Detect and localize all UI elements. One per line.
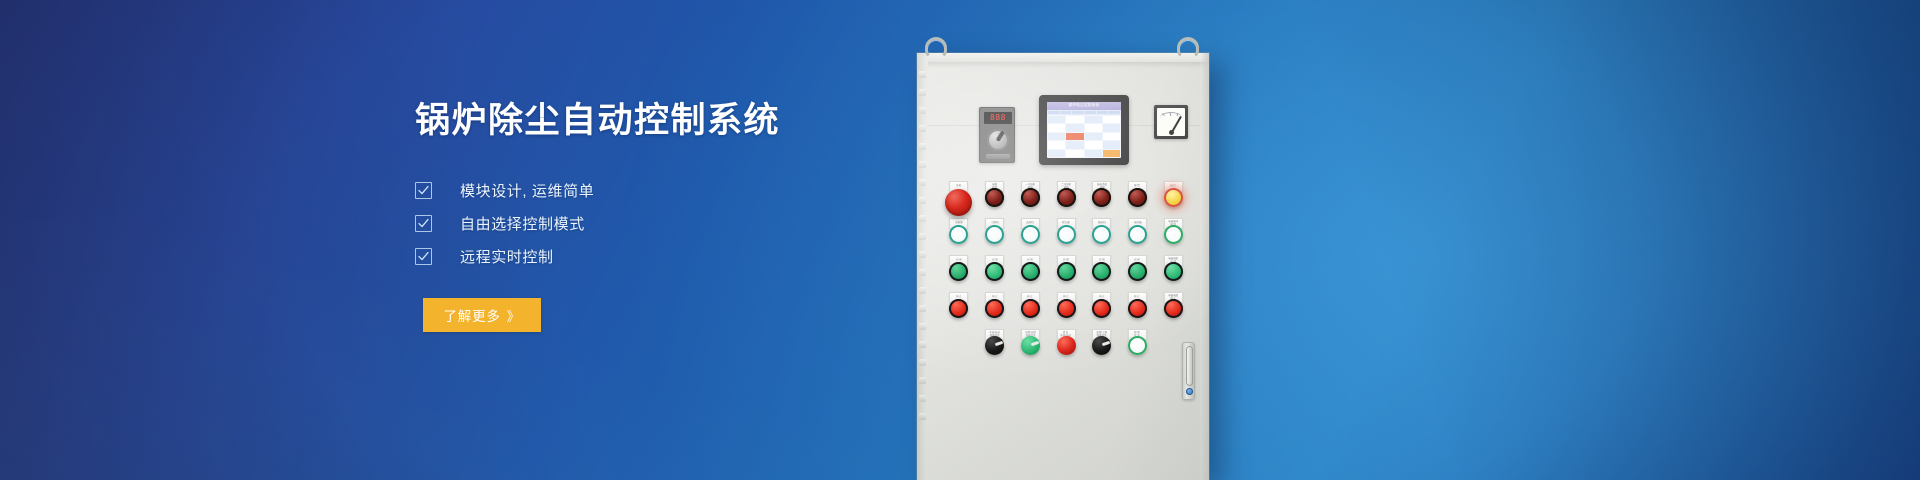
stop-button[interactable]: 停 止 [1084, 292, 1120, 318]
handle-bar [1186, 346, 1193, 386]
mushroom-button-icon[interactable] [945, 189, 972, 216]
button-row: 停 止 停 止 停 止 停 止 [941, 292, 1191, 329]
stop-lamp-icon[interactable] [1092, 299, 1111, 318]
gauge-face [1157, 108, 1185, 136]
hero-banner: 锅炉除尘自动控制系统 模块设计, 运维简单 自由选择控制模式 远程实时控制 [0, 0, 1920, 480]
indicator-lamp-icon[interactable] [1021, 188, 1040, 207]
grid-spacer [941, 329, 977, 355]
indicator-power[interactable]: 电源 指示 [977, 181, 1013, 207]
button-dust-collector[interactable]: 除尘器 [1048, 218, 1084, 244]
indicator-lamp-icon[interactable] [1128, 188, 1147, 207]
button-row: 手动/自动 转换开关 就地/远程 转换开关 清 灰 手动/自动 变频/工频 转换… [941, 329, 1191, 366]
learn-more-label: 了解更多 [443, 305, 500, 325]
indicator-lamp-icon[interactable] [1164, 188, 1183, 207]
stop-lamp-icon[interactable] [1057, 299, 1076, 318]
list-item: 自由选择控制模式 [415, 207, 885, 240]
start-button[interactable]: 启 动 [977, 255, 1013, 281]
button-row: 总电源 引风机 送风机 除尘器 [941, 218, 1191, 255]
selector-switch-icon[interactable] [1057, 336, 1076, 355]
feature-list: 模块设计, 运维简单 自由选择控制模式 远程实时控制 [415, 174, 885, 273]
indicator-lamp-icon[interactable] [1092, 225, 1111, 244]
stop-button[interactable]: 停 止 [977, 292, 1013, 318]
indicator-running[interactable]: 运 行 [1155, 181, 1191, 207]
table-row [1048, 141, 1120, 148]
indicator-ash-fault[interactable]: 输灰系统 故障 [1084, 181, 1120, 207]
stop-button[interactable]: 停 止 [941, 292, 977, 318]
start-lamp-icon[interactable] [1164, 262, 1183, 281]
indicator-lamp-icon[interactable] [1057, 188, 1076, 207]
selector-vfd-line[interactable]: 变频/工频 转换开关 [1084, 329, 1120, 355]
start-button[interactable]: 启 动 [1084, 255, 1120, 281]
indicator-lamp-icon[interactable] [1021, 225, 1040, 244]
start-lamp-icon[interactable] [1092, 262, 1111, 281]
stop-button-valve-group[interactable]: 电磁阀组 停 止 [1155, 292, 1191, 318]
start-button[interactable]: 启 动 [941, 255, 977, 281]
cabinet-top-shadow [917, 62, 1209, 68]
lock-icon[interactable] [1186, 388, 1193, 395]
indicator-lamp-icon[interactable] [985, 188, 1004, 207]
indicator-lamp-icon[interactable] [1092, 188, 1111, 207]
button-solenoid-valve-group[interactable]: 电磁脉冲 阀 组 [1155, 218, 1191, 244]
button-ash-conveyor[interactable]: 输灰机 [1084, 218, 1120, 244]
button-main-power[interactable]: 总电源 [941, 218, 977, 244]
button-blower-fan[interactable]: 送风机 [1012, 218, 1048, 244]
learn-more-button[interactable]: 了解更多 》 [423, 298, 541, 332]
selector-switch-icon[interactable] [1021, 336, 1040, 355]
digital-controller-display: 888 [984, 112, 1012, 124]
table-row [1048, 124, 1120, 131]
start-lamp-icon[interactable] [1128, 262, 1147, 281]
hmi-data-grid [1047, 115, 1121, 158]
indicator-fan2-fault[interactable]: 二号风机 故障 [1048, 181, 1084, 207]
list-item: 远程实时控制 [415, 240, 885, 273]
cabinet-body: 888 锅炉除尘控制系统 [917, 53, 1209, 480]
hmi-title-text: 锅炉除尘控制系统 [1068, 104, 1099, 108]
indicator-lamp-icon[interactable] [1128, 225, 1147, 244]
door-handle-lock[interactable] [1182, 342, 1195, 400]
stop-button[interactable]: 停 止 [1012, 292, 1048, 318]
lifting-eye-icon [925, 37, 947, 59]
start-button[interactable]: 启 动 [1012, 255, 1048, 281]
start-lamp-icon[interactable] [985, 262, 1004, 281]
stop-lamp-icon[interactable] [1021, 299, 1040, 318]
chevron-right-icon: 》 [507, 306, 521, 325]
checkbox-icon [415, 182, 432, 199]
indicator-alarm[interactable]: 报 警 [1120, 181, 1156, 207]
button-induced-fan[interactable]: 引风机 [977, 218, 1013, 244]
start-lamp-icon[interactable] [949, 262, 968, 281]
cabinet-right-edge [1200, 53, 1209, 480]
stop-lamp-icon[interactable] [1128, 299, 1147, 318]
checkbox-icon [415, 248, 432, 265]
table-row [1048, 150, 1120, 157]
banner-copy: 锅炉除尘自动控制系统 模块设计, 运维简单 自由选择控制模式 远程实时控制 [415, 100, 885, 332]
button-row: 启 动 启 动 启 动 启 动 [941, 255, 1191, 292]
selector-switch-icon[interactable] [1128, 336, 1147, 355]
button-rapper[interactable]: 振打器 [1120, 218, 1156, 244]
start-button[interactable]: 启 动 [1120, 255, 1156, 281]
hmi-screen[interactable]: 锅炉除尘控制系统 [1047, 102, 1121, 158]
digital-controller-value: 888 [990, 114, 1006, 122]
digital-controller-base [986, 154, 1010, 159]
feature-label: 自由选择控制模式 [460, 213, 585, 234]
start-lamp-icon[interactable] [1057, 262, 1076, 281]
digital-controller[interactable]: 888 [979, 107, 1015, 163]
page-title: 锅炉除尘自动控制系统 [415, 100, 885, 142]
selector-manual-auto[interactable]: 手动/自动 转换开关 [977, 329, 1013, 355]
button-row: 急停 电源 指示 一号风机 故障 二号风机 故障 [941, 181, 1191, 218]
stop-button[interactable]: 停 止 [1048, 292, 1084, 318]
emergency-stop-button[interactable]: 急停 [941, 181, 977, 216]
cabinet-hinges [919, 71, 926, 463]
analog-gauge [1154, 105, 1188, 139]
feature-label: 远程实时控制 [460, 246, 554, 267]
start-button[interactable]: 启 动 [1048, 255, 1084, 281]
feature-label: 模块设计, 运维简单 [460, 180, 594, 201]
hmi-title-bar: 锅炉除尘控制系统 [1047, 102, 1121, 110]
pushbutton-grid: 急停 电源 指示 一号风机 故障 二号风机 故障 [941, 181, 1191, 366]
stop-lamp-icon[interactable] [985, 299, 1004, 318]
indicator-lamp-icon[interactable] [1164, 225, 1183, 244]
stop-lamp-icon[interactable] [949, 299, 968, 318]
indicator-lamp-icon[interactable] [985, 225, 1004, 244]
hmi-touch-panel[interactable]: 锅炉除尘控制系统 [1039, 95, 1129, 165]
selector-ash-clean-mode[interactable]: 清 灰 手动/自动 [1048, 329, 1084, 355]
selector-switch-icon[interactable] [1092, 336, 1111, 355]
control-cabinet-photo: 888 锅炉除尘控制系统 [905, 0, 1920, 480]
selector-lighting[interactable]: 照 明 开 关 [1120, 329, 1156, 355]
rotary-knob-icon[interactable] [987, 129, 1009, 151]
table-row [1048, 116, 1120, 123]
indicator-lamp-icon[interactable] [949, 225, 968, 244]
selector-local-remote[interactable]: 就地/远程 转换开关 [1012, 329, 1048, 355]
list-item: 模块设计, 运维简单 [415, 174, 885, 207]
stop-lamp-icon[interactable] [1164, 299, 1183, 318]
indicator-lamp-icon[interactable] [1057, 225, 1076, 244]
stop-button[interactable]: 停 止 [1120, 292, 1156, 318]
indicator-fan1-fault[interactable]: 一号风机 故障 [1012, 181, 1048, 207]
lifting-eye-icon [1177, 37, 1199, 59]
gauge-hub [1169, 130, 1174, 135]
checkbox-icon [415, 215, 432, 232]
selector-switch-icon[interactable] [985, 336, 1004, 355]
start-button-valve-group[interactable]: 电磁阀组 启 动 [1155, 255, 1191, 281]
cabinet-top-edge [917, 53, 1209, 62]
table-row [1048, 133, 1120, 140]
start-lamp-icon[interactable] [1021, 262, 1040, 281]
